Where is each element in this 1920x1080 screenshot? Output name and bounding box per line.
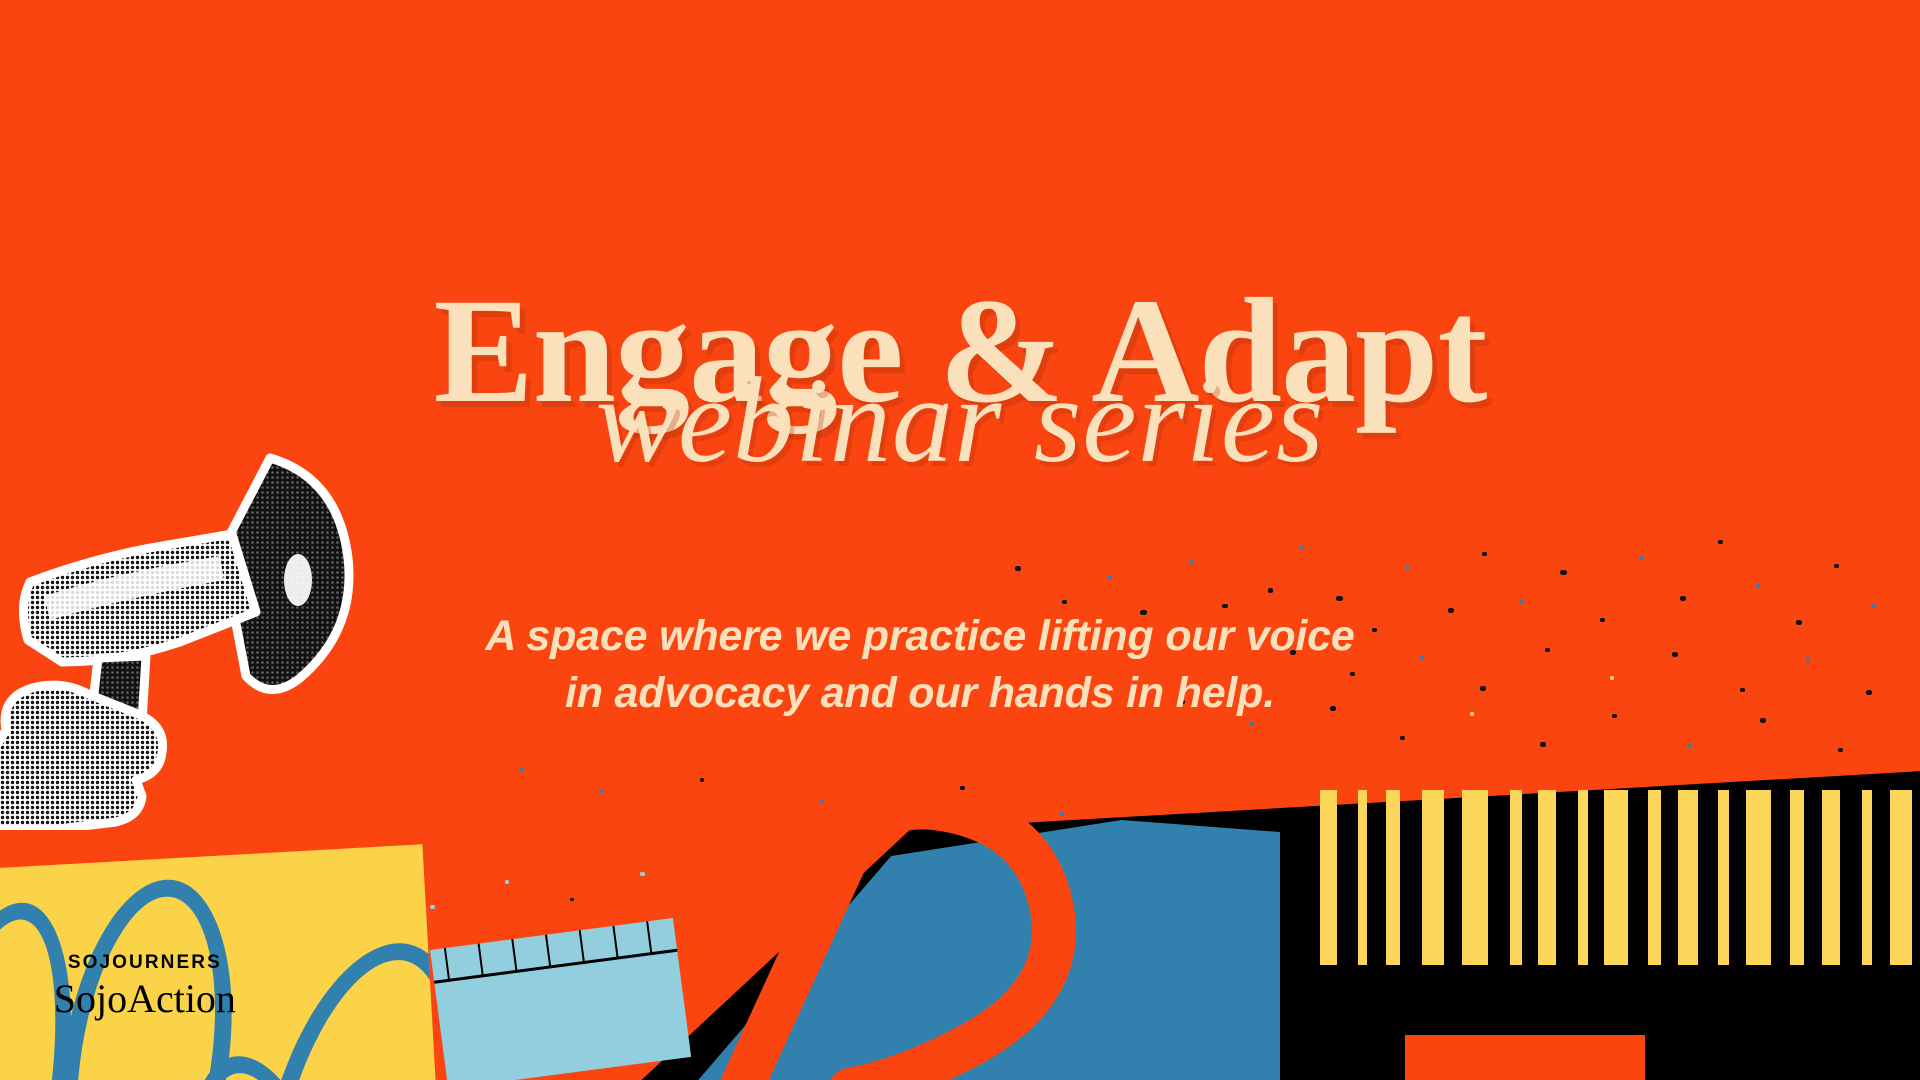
- barcode-bars: [1310, 790, 1920, 965]
- script-stroke-icon: [700, 790, 1120, 1080]
- logo: SOJOURNERS SojoAction: [30, 952, 260, 1020]
- tagline: A space where we practice lifting our vo…: [330, 608, 1510, 722]
- ladder-icon: [430, 918, 691, 1080]
- barcode-icon: [1310, 790, 1920, 1080]
- megaphone-icon: [0, 430, 370, 830]
- logo-card: SOJOURNERS SojoAction: [0, 844, 437, 1080]
- tagline-line-2: in advocacy and our hands in help.: [330, 665, 1510, 722]
- logo-program: SojoAction: [30, 978, 260, 1020]
- poster-canvas: SOJOURNERS SojoAction: [0, 0, 1920, 1080]
- logo-organization: SOJOURNERS: [30, 952, 260, 974]
- barcode-red-bar: [1405, 1035, 1645, 1080]
- subtitle-script: webinar series: [0, 360, 1920, 482]
- tagline-line-1: A space where we practice lifting our vo…: [330, 608, 1510, 665]
